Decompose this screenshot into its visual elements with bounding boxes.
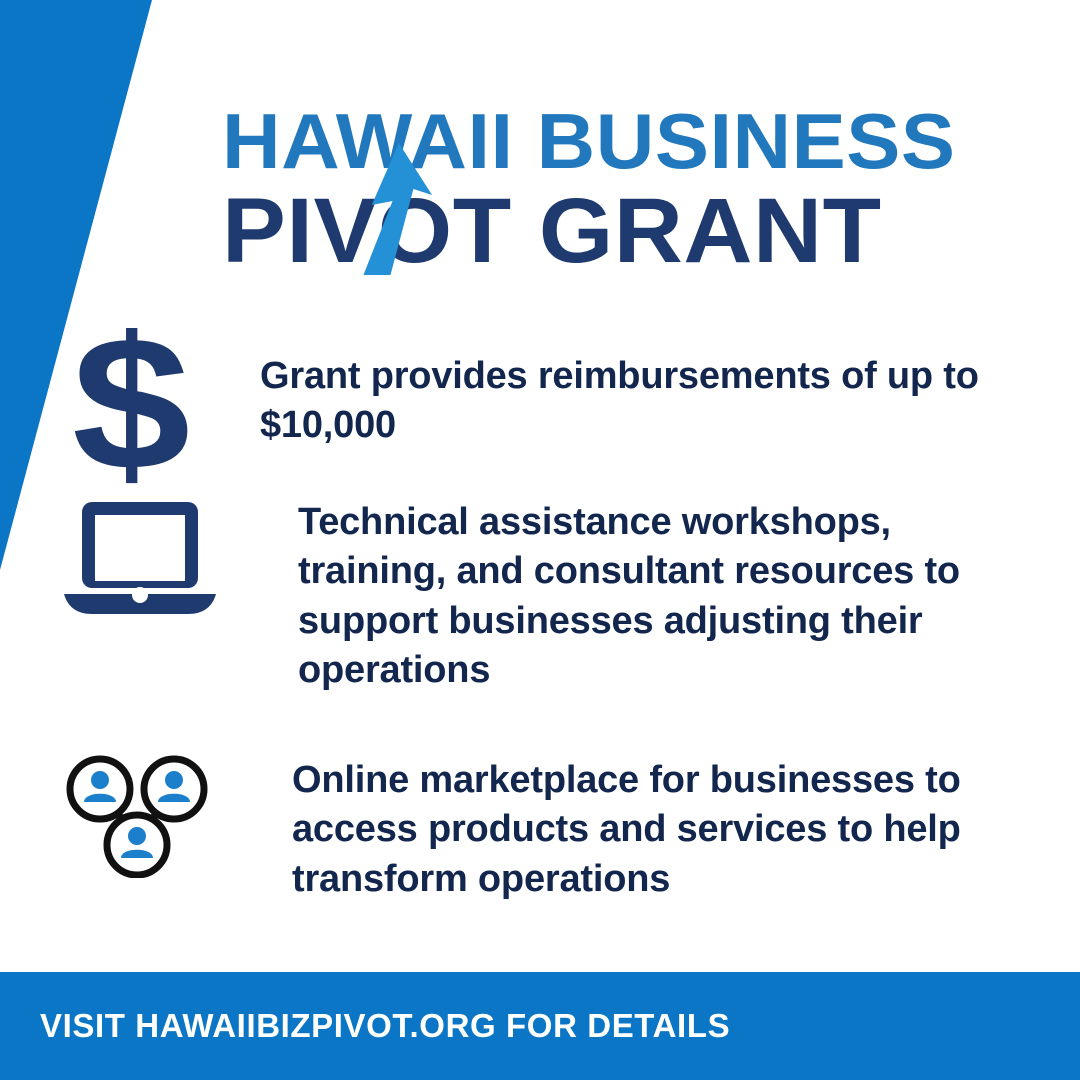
feature-row-technical-assistance: Technical assistance workshops, training… (62, 496, 1022, 696)
headline-line-1: HAWAII BUSINESS (222, 104, 1012, 179)
feature-row-grant-amount: $ Grant provides reimbursements of up to… (72, 340, 1032, 490)
people-network-icon (62, 748, 212, 878)
headline-block: HAWAII BUSINESS PIVOT GRANT (222, 104, 982, 275)
feature-text-grant-amount: Grant provides reimbursements of up to $… (260, 340, 1030, 451)
feature-text-technical-assistance: Technical assistance workshops, training… (298, 496, 998, 696)
headline-line-2: PIVOT GRANT (222, 187, 1012, 275)
footer-call-to-action[interactable]: VISIT HAWAIIBIZPIVOT.ORG FOR DETAILS (40, 1007, 730, 1045)
headline-pivot-prefix: PI (222, 180, 313, 282)
feature-text-online-marketplace: Online marketplace for businesses to acc… (292, 748, 1012, 904)
feature-row-online-marketplace: Online marketplace for businesses to acc… (62, 748, 1022, 904)
laptop-icon (62, 496, 218, 620)
poster-canvas: HAWAII BUSINESS PIVOT GRANT $ Grant prov… (0, 0, 1080, 1080)
headline-pivot-suffix: OT GRANT (378, 180, 882, 282)
headline-pivot-v: V (313, 180, 377, 282)
dollar-sign-icon: $ (72, 340, 192, 490)
